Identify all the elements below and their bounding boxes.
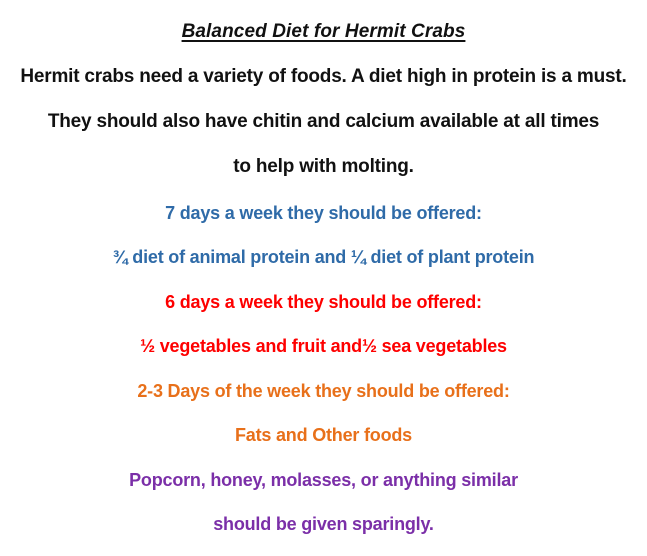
document-body: Balanced Diet for Hermit Crabs Hermit cr…: [0, 22, 647, 556]
intro-line-1: Hermit crabs need a variety of foods. A …: [0, 67, 647, 86]
section-heading-sparingly: Popcorn, honey, molasses, or anything si…: [0, 471, 647, 489]
page-title: Balanced Diet for Hermit Crabs: [0, 22, 647, 41]
section-heading-seven-days: 7 days a week they should be offered:: [0, 204, 647, 222]
intro-line-2: They should also have chitin and calcium…: [0, 112, 647, 131]
section-detail-sparingly: should be given sparingly.: [0, 515, 647, 533]
section-detail-seven-days: ¾ diet of animal protein and ¼ diet of p…: [0, 248, 647, 266]
section-heading-six-days: 6 days a week they should be offered:: [0, 293, 647, 311]
section-heading-two-three-days: 2-3 Days of the week they should be offe…: [0, 382, 647, 400]
section-detail-six-days: ½ vegetables and fruit and½ sea vegetabl…: [0, 337, 647, 355]
section-detail-two-three-days: Fats and Other foods: [0, 426, 647, 444]
intro-line-3: to help with molting.: [0, 157, 647, 176]
